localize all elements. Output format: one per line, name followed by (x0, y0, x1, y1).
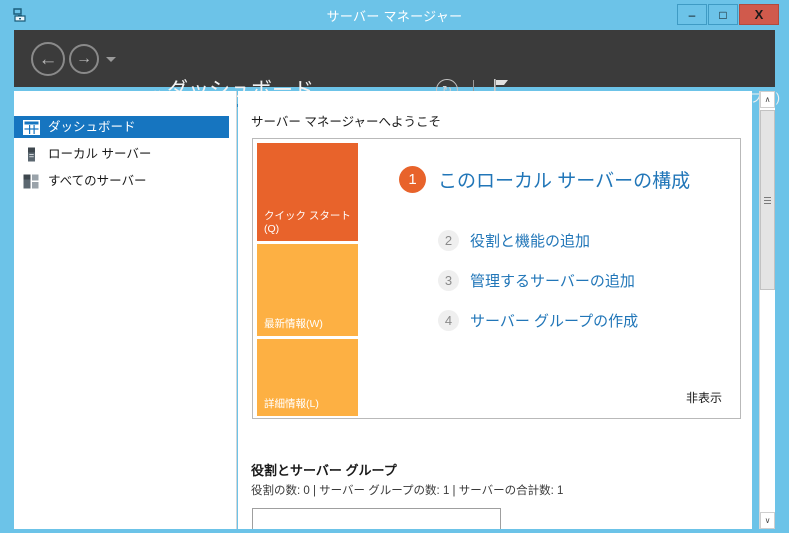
roles-tile-placeholder[interactable] (252, 508, 501, 529)
whats-new-tile[interactable]: 最新情報(W) (257, 244, 358, 336)
sidebar-item-dashboard[interactable]: ダッシュボード (14, 116, 229, 138)
close-button[interactable]: X (739, 4, 779, 25)
navigation-toolbar: ← → ◂◂ ダッシュボード ↻ 管理(M) ツール(T) 表示(V) ヘルプ(… (14, 30, 775, 87)
minimize-icon: – (689, 9, 696, 21)
quick-start-tile[interactable]: クイック スタート (Q) (257, 143, 358, 241)
whats-new-tile-label: 最新情報(W) (264, 318, 323, 331)
close-icon: X (755, 8, 764, 21)
scroll-down-button[interactable]: ∨ (760, 512, 775, 529)
hide-link[interactable]: 非表示 (686, 389, 722, 406)
scrollbar-thumb[interactable] (760, 110, 775, 290)
forward-button[interactable]: → (69, 44, 99, 74)
step-number-badge: 3 (438, 270, 459, 291)
sidebar-item-all-servers[interactable]: すべてのサーバー (14, 170, 237, 192)
arrow-right-icon: → (76, 51, 92, 67)
learn-more-tile[interactable]: 詳細情報(L) (257, 339, 358, 416)
chevron-down-icon[interactable] (106, 57, 116, 62)
step-label: このローカル サーバーの構成 (438, 166, 690, 193)
arrow-left-icon: ← (39, 50, 58, 69)
minimize-button[interactable]: – (677, 4, 707, 25)
title-bar: サーバー マネージャー – □ X (0, 0, 789, 30)
main-content: サーバー マネージャーへようこそ クイック スタート (Q) 最新情報(W) 詳… (238, 91, 752, 529)
sidebar-item-label: ダッシュボード (48, 121, 136, 134)
quick-start-tile-label: クイック スタート (Q) (264, 210, 351, 236)
step-add-other-servers[interactable]: 3 管理するサーバーの追加 (438, 270, 635, 291)
roles-section-summary: 役割の数: 0 | サーバー グループの数: 1 | サーバーの合計数: 1 (251, 482, 563, 498)
learn-more-tile-label: 詳細情報(L) (264, 398, 319, 411)
sidebar-item-label: すべてのサーバー (48, 175, 147, 188)
welcome-heading: サーバー マネージャーへようこそ (251, 111, 441, 130)
scrollbar-grip-icon (764, 197, 771, 204)
step-create-server-group[interactable]: 4 サーバー グループの作成 (438, 310, 638, 331)
maximize-icon: □ (719, 9, 726, 21)
step-number-badge: 1 (399, 166, 426, 193)
step-configure-local-server[interactable]: 1 このローカル サーバーの構成 (399, 166, 690, 193)
chevron-up-icon: ∧ (765, 95, 771, 104)
step-number-badge: 4 (438, 310, 459, 331)
dashboard-grid-icon (23, 120, 40, 135)
roles-section-title: 役割とサーバー グループ (251, 460, 397, 479)
maximize-button[interactable]: □ (708, 4, 738, 25)
sidebar: ダッシュボード ローカル サーバー (14, 91, 237, 529)
chevron-down-icon: ∨ (765, 516, 771, 525)
step-add-roles-and-features[interactable]: 2 役割と機能の追加 (438, 230, 590, 251)
scroll-up-button[interactable]: ∧ (760, 91, 775, 108)
server-manager-window: サーバー マネージャー – □ X ← → ◂◂ ダッシュボード ↻ (0, 0, 789, 533)
sidebar-item-label: ローカル サーバー (48, 148, 151, 161)
all-servers-icon (23, 174, 40, 189)
single-server-icon (23, 147, 40, 162)
step-label: サーバー グループの作成 (470, 310, 638, 331)
step-label: 管理するサーバーの追加 (470, 270, 635, 291)
sidebar-item-local-server[interactable]: ローカル サーバー (14, 143, 237, 165)
vertical-scrollbar[interactable]: ∧ ∨ (759, 91, 775, 529)
step-label: 役割と機能の追加 (470, 230, 590, 251)
welcome-tile: クイック スタート (Q) 最新情報(W) 詳細情報(L) 1 このローカル サ… (252, 138, 741, 419)
step-number-badge: 2 (438, 230, 459, 251)
window-title: サーバー マネージャー (0, 6, 789, 25)
back-button[interactable]: ← (31, 42, 65, 76)
